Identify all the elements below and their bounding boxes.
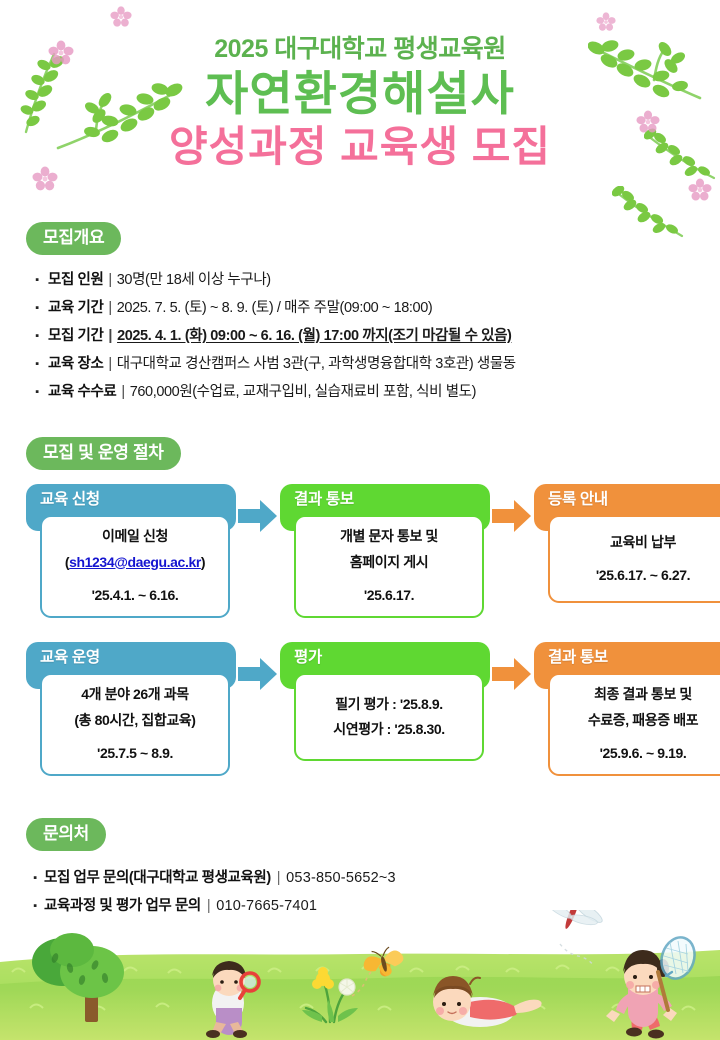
- process-card-email-line: (sh1234@daegu.ac.kr): [50, 553, 220, 573]
- overview-item-label: 모집 인원: [48, 271, 103, 291]
- overview-heading: 모집개요: [26, 222, 121, 255]
- process-card-result-notice: 결과 통보 개별 문자 통보 및 홈페이지 게시 '25.6.17.: [280, 484, 490, 618]
- process-section: 모집 및 운영 절차 교육 신청 이메일 신청 (sh1234@daegu.ac…: [26, 437, 696, 782]
- process-card-line: 수료증, 패용증 배포: [558, 711, 720, 731]
- process-card-body: 4개 분야 26개 과목 (총 80시간, 집합교육) '25.7.5 ~ 8.…: [40, 673, 230, 776]
- overview-section: 모집개요 ▪ 모집 인원 | 30명(만 18세 이상 누구나) ▪ 교육 기간…: [26, 222, 696, 411]
- process-card-registration: 등록 안내 교육비 납부 '25.6.17. ~ 6.27.: [534, 484, 720, 604]
- overview-item-label: 교육 수수료: [48, 383, 116, 403]
- process-card-line: 홈페이지 게시: [304, 553, 474, 573]
- contact-item-separator: |: [201, 898, 216, 914]
- process-card-line: 개별 문자 통보 및: [304, 527, 474, 547]
- list-item: ▪ 모집 업무 문의(대구대학교 평생교육원) | 053-850-5652~3: [26, 866, 696, 887]
- flow-arrow-right-icon: [236, 496, 280, 536]
- process-card-line: 필기 평가 : '25.8.9.: [304, 695, 474, 715]
- contact-phone-number: 053-850-5652~3: [286, 870, 396, 886]
- process-card-line: (총 80시간, 집합교육): [50, 711, 220, 731]
- list-item: ▪ 교육과정 및 평가 업무 문의 | 010-7665-7401: [26, 894, 696, 915]
- flow-arrow-right-icon: [490, 496, 534, 536]
- grass-field: [0, 950, 720, 1040]
- process-card-evaluation: 평가 필기 평가 : '25.8.9. 시연평가 : '25.8.30.: [280, 642, 490, 762]
- process-card-operation: 교육 운영 4개 분야 26개 과목 (총 80시간, 집합교육) '25.7.…: [26, 642, 236, 776]
- poster-title-block: 2025 대구대학교 평생교육원 자연환경해설사 양성과정 교육생 모집: [0, 34, 720, 171]
- dandelion-icon: [302, 967, 358, 1022]
- overview-list: ▪ 모집 인원 | 30명(만 18세 이상 누구나) ▪ 교육 기간 | 20…: [26, 271, 696, 403]
- process-card-date: '25.6.17.: [304, 586, 474, 606]
- bullet-icon: ▪: [26, 385, 48, 400]
- list-item: ▪ 모집 인원 | 30명(만 18세 이상 누구나): [26, 271, 696, 291]
- bullet-icon: ▪: [26, 301, 48, 316]
- process-row: 교육 운영 4개 분야 26개 과목 (총 80시간, 집합교육) '25.7.…: [26, 642, 696, 782]
- contact-section: 문의처 ▪ 모집 업무 문의(대구대학교 평생교육원) | 053-850-56…: [26, 818, 696, 922]
- process-card-date: '25.4.1. ~ 6.16.: [50, 586, 220, 606]
- process-card-line: 이메일 신청: [50, 527, 220, 547]
- overview-item-label: 교육 장소: [48, 355, 103, 375]
- child-net-icon: [606, 933, 700, 1038]
- contact-item-label: 교육과정 및 평가 업무 문의: [44, 894, 201, 915]
- list-item: ▪ 모집 기간 | 2025. 4. 1. (화) 09:00 ~ 6. 16.…: [26, 327, 696, 347]
- tree-icon: [32, 933, 124, 1022]
- poster-root: 2025 대구대학교 평생교육원 자연환경해설사 양성과정 교육생 모집 모집개…: [0, 0, 720, 1040]
- bullet-icon: ▪: [26, 900, 44, 912]
- email-link[interactable]: sh1234@daegu.ac.kr: [69, 554, 201, 570]
- overview-item-separator: |: [103, 299, 116, 319]
- overview-item-separator: |: [103, 271, 116, 291]
- process-card-line: 최종 결과 통보 및: [558, 685, 720, 705]
- contact-phone-number: 010-7665-7401: [216, 898, 317, 914]
- cherry-blossom-icon: [110, 6, 132, 28]
- process-card-final-result: 결과 통보 최종 결과 통보 및 수료증, 패용증 배포 '25.9.6. ~ …: [534, 642, 720, 776]
- process-card-apply: 교육 신청 이메일 신청 (sh1234@daegu.ac.kr) '25.4.…: [26, 484, 236, 618]
- process-card-body: 교육비 납부 '25.6.17. ~ 6.27.: [548, 515, 720, 603]
- process-rows: 교육 신청 이메일 신청 (sh1234@daegu.ac.kr) '25.4.…: [26, 484, 696, 782]
- poster-title-main: 자연환경해설사: [0, 68, 720, 121]
- overview-item-label: 모집 기간: [48, 327, 103, 347]
- process-card-body: 최종 결과 통보 및 수료증, 패용증 배포 '25.9.6. ~ 9.19.: [548, 673, 720, 776]
- process-card-date: '25.6.17. ~ 6.27.: [558, 566, 720, 586]
- process-row: 교육 신청 이메일 신청 (sh1234@daegu.ac.kr) '25.4.…: [26, 484, 696, 624]
- footer-illustration: [0, 910, 720, 1040]
- process-card-date: '25.7.5 ~ 8.9.: [50, 744, 220, 764]
- poster-subtitle: 2025 대구대학교 평생교육원: [0, 34, 720, 64]
- paren-close: ): [201, 554, 205, 570]
- child-magnifier-icon: [206, 961, 259, 1038]
- process-card-body: 개별 문자 통보 및 홈페이지 게시 '25.6.17.: [294, 515, 484, 618]
- poster-title-sub: 양성과정 교육생 모집: [0, 123, 720, 171]
- overview-item-separator: |: [103, 327, 117, 347]
- process-card-line: 4개 분야 26개 과목: [50, 685, 220, 705]
- process-heading: 모집 및 운영 절차: [26, 437, 181, 470]
- overview-item-value: 대구대학교 경산캠퍼스 사범 3관(구, 과학생명융합대학 3호관) 생물동: [117, 355, 516, 375]
- bullet-icon: ▪: [26, 273, 48, 288]
- overview-item-separator: |: [103, 355, 116, 375]
- cherry-blossom-icon: [596, 12, 616, 32]
- cherry-blossom-icon: [688, 178, 712, 202]
- contact-item-separator: |: [271, 870, 286, 886]
- process-card-date: '25.9.6. ~ 9.19.: [558, 744, 720, 764]
- contact-list: ▪ 모집 업무 문의(대구대학교 평생교육원) | 053-850-5652~3…: [26, 866, 696, 915]
- bullet-icon: ▪: [26, 872, 44, 884]
- bullet-icon: ▪: [26, 357, 48, 372]
- list-item: ▪ 교육 수수료 | 760,000원(수업료, 교재구입비, 실습재료비 포함…: [26, 383, 696, 403]
- list-item: ▪ 교육 기간 | 2025. 7. 5. (토) ~ 8. 9. (토) / …: [26, 299, 696, 319]
- flow-arrow-right-icon: [490, 654, 534, 694]
- overview-item-value: 2025. 4. 1. (화) 09:00 ~ 6. 16. (월) 17:00…: [117, 327, 511, 347]
- butterfly-icon: [352, 944, 407, 996]
- process-card-body: 필기 평가 : '25.8.9. 시연평가 : '25.8.30.: [294, 673, 484, 761]
- process-card-body: 이메일 신청 (sh1234@daegu.ac.kr) '25.4.1. ~ 6…: [40, 515, 230, 618]
- overview-item-separator: |: [116, 383, 129, 403]
- contact-heading: 문의처: [26, 818, 106, 851]
- contact-item-label: 모집 업무 문의(대구대학교 평생교육원): [44, 866, 271, 887]
- child-lying-icon: [433, 976, 542, 1027]
- overview-item-value: 30명(만 18세 이상 누구나): [117, 271, 271, 291]
- flow-arrow-right-icon: [236, 654, 280, 694]
- overview-item-value: 760,000원(수업료, 교재구입비, 실습재료비 포함, 식비 별도): [130, 383, 476, 403]
- list-item: ▪ 교육 장소 | 대구대학교 경산캠퍼스 사범 3관(구, 과학생명융합대학 …: [26, 355, 696, 375]
- process-card-line: 교육비 납부: [558, 533, 720, 553]
- bullet-icon: ▪: [26, 329, 48, 344]
- overview-item-value: 2025. 7. 5. (토) ~ 8. 9. (토) / 매주 주말(09:0…: [117, 299, 433, 319]
- overview-item-label: 교육 기간: [48, 299, 103, 319]
- process-card-line: 시연평가 : '25.8.30.: [304, 720, 474, 740]
